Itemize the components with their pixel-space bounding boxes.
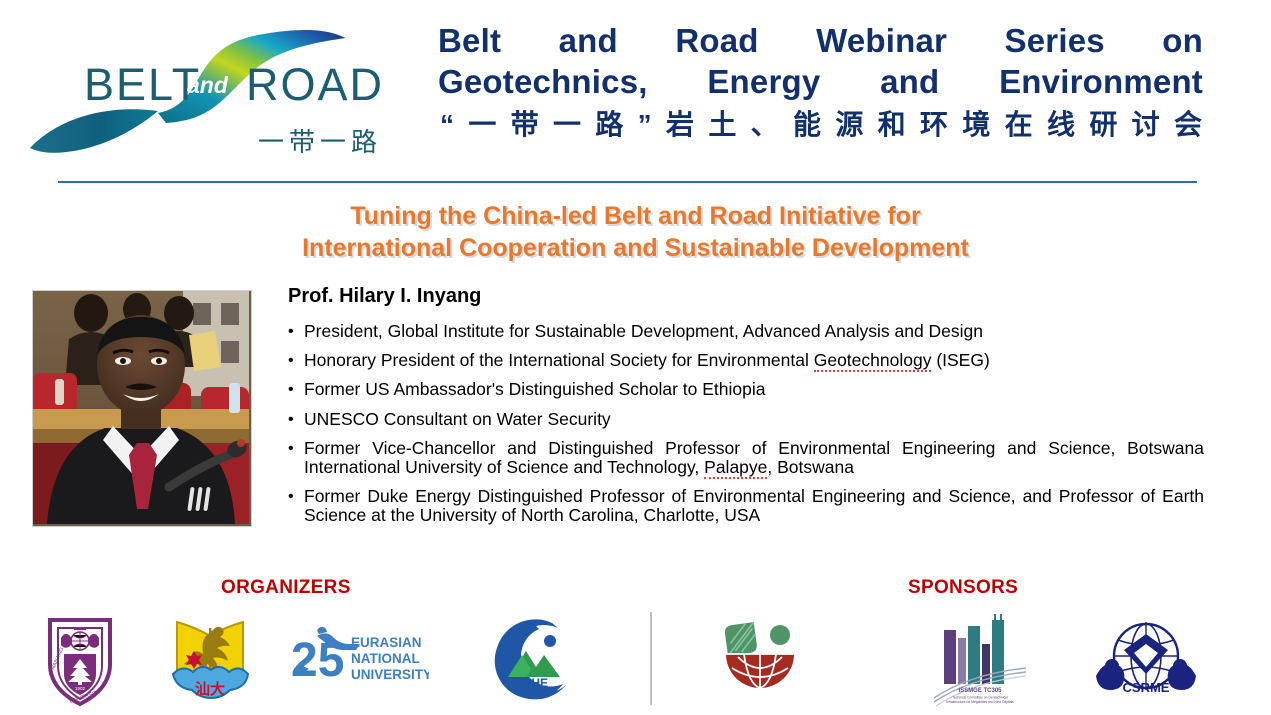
list-item: • Former Duke Energy Distinguished Profe… <box>288 487 1204 525</box>
logo-text-issmge-sub2: Infrastructure for Megacities and New Ca… <box>946 700 1014 704</box>
bio-text: Former Vice-Chancellor and Distinguished… <box>304 439 1204 477</box>
talk-title-line1: Tuning the China-led Belt and Road Initi… <box>100 200 1171 232</box>
logo-text-shantou: 汕大 <box>195 680 225 698</box>
slide-root: BELT and ROAD 一带一路 Belt and Road Webinar… <box>0 0 1271 715</box>
logo-shantou-university: 汕大 <box>163 608 258 708</box>
belt-and-road-logo: BELT and ROAD 一带一路 <box>18 8 418 168</box>
header-divider <box>58 181 1197 183</box>
header: BELT and ROAD 一带一路 Belt and Road Webinar… <box>0 0 1271 172</box>
logo-leaf-globe-sponsor <box>714 618 814 706</box>
list-item: • UNESCO Consultant on Water Security <box>288 410 1204 429</box>
logo-text-university: UNIVERSITY <box>351 667 429 682</box>
sponsors-label: SPONSORS <box>908 577 1018 599</box>
bio-text: Former Duke Energy Distinguished Profess… <box>304 487 1204 525</box>
bullet-icon: • <box>288 439 304 477</box>
header-title-line2: Geotechnics, Energy and Environment <box>438 61 1203 102</box>
bullet-icon: • <box>288 322 304 341</box>
logo-text-imhe: IMHE <box>518 676 548 690</box>
header-title-cn: “一带一路”岩土、能源和环境在线研讨会 <box>440 108 1202 142</box>
bio-text: Former US Ambassador's Distinguished Sch… <box>304 380 1204 399</box>
logo-text-csrme: CSRME <box>1123 680 1170 695</box>
bullet-icon: • <box>288 380 304 399</box>
bio-text-post: , Botswana <box>767 457 854 477</box>
logo-issmge-tc305: ISSMGE TC305 Technical Committee on Geot… <box>930 612 1030 708</box>
speaker-name: Prof. Hilary I. Inyang <box>288 285 481 308</box>
organizers-label: ORGANIZERS <box>221 577 351 599</box>
logo-imhe: IMHE <box>486 615 582 707</box>
logo-csrme: CSRME <box>1090 614 1202 708</box>
list-item: • Former US Ambassador's Distinguished S… <box>288 380 1204 399</box>
misspelled-word: Palapye <box>704 457 767 479</box>
footer-divider <box>650 612 652 705</box>
bio-text-pre: Honorary President of the International … <box>304 350 814 370</box>
logo-text-eurasian: EURASIAN <box>351 635 422 650</box>
bullet-icon: • <box>288 351 304 370</box>
bullet-icon: • <box>288 487 304 525</box>
bio-text: Honorary President of the International … <box>304 351 1204 370</box>
logo-nanjing-university: 1902 NANJING UNIVERSITY <box>30 608 130 708</box>
logo-word-road: ROAD <box>246 59 384 110</box>
logo-chinese: 一带一路 <box>258 128 382 158</box>
header-title-en: Belt and Road Webinar Series on Geotechn… <box>438 20 1203 102</box>
bio-text-post: (ISEG) <box>931 350 989 370</box>
logo-eurasian-national-university: 25 EURASIAN NATIONAL UNIVERSITY <box>289 626 429 688</box>
bio-text: UNESCO Consultant on Water Security <box>304 410 1204 429</box>
list-item: • Former Vice-Chancellor and Distinguish… <box>288 439 1204 477</box>
logo-text-issmge-sub1: Technical Committee on Geotechnical <box>952 696 1008 700</box>
header-title-line1: Belt and Road Webinar Series on <box>438 20 1203 61</box>
logo-text-issmge-title: ISSMGE TC305 <box>958 688 1002 694</box>
list-item: • Honorary President of the Internationa… <box>288 351 1204 370</box>
logo-text-national: NATIONAL <box>351 651 420 666</box>
misspelled-word: Geotechnology <box>814 350 932 372</box>
bio-text: President, Global Institute for Sustaina… <box>304 322 1204 341</box>
logo-word-and: and <box>187 72 229 98</box>
bullet-icon: • <box>288 410 304 429</box>
list-item: • President, Global Institute for Sustai… <box>288 322 1204 341</box>
talk-title-line2: International Cooperation and Sustainabl… <box>100 232 1171 264</box>
talk-title: Tuning the China-led Belt and Road Initi… <box>100 200 1171 264</box>
speaker-bio-list: • President, Global Institute for Sustai… <box>288 322 1204 536</box>
speaker-photo <box>32 290 252 527</box>
logo-year: 1902 <box>75 686 86 691</box>
logo-word-belt: BELT <box>84 59 201 110</box>
